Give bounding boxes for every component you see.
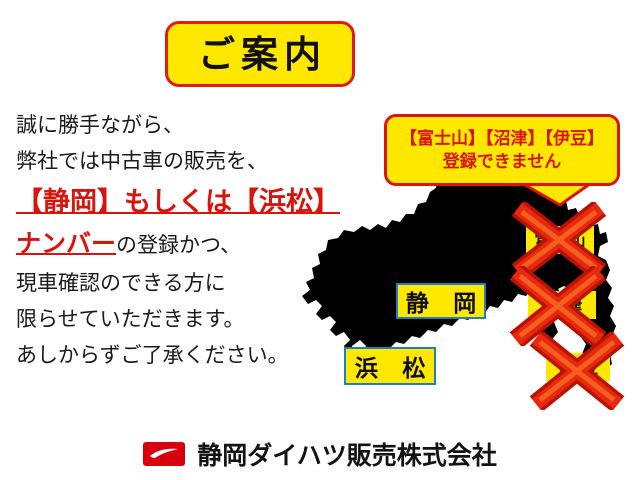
map-label-numazu-text: 沼 津 [539, 295, 585, 316]
body-line-4-rest: の登録かつ、 [116, 234, 241, 257]
title-text: ご案内 [193, 36, 327, 73]
number-emphasis: ナンバー [16, 230, 116, 258]
footer: 静岡ダイハツ販売株式会社 [0, 434, 640, 474]
map-label-hamamatsu: 浜 松 [344, 347, 436, 385]
title-banner: ご案内 [165, 21, 355, 87]
body-line-2: 弊社では中古車の販売を、 [16, 144, 336, 180]
callout-line-2: 登録できません [443, 150, 562, 173]
daihatsu-logo-icon [143, 442, 185, 466]
map-label-shizuoka: 静 岡 [396, 283, 486, 319]
map-label-fujisan-text: 富士山 [531, 230, 588, 251]
body-line-4: ナンバーの登録かつ、 [16, 224, 336, 266]
body-line-5: 現車確認のできる方に [16, 266, 336, 302]
body-paragraph: 誠に勝手ながら、 弊社では中古車の販売を、 【静岡】もしくは【浜松】 ナンバーの… [16, 108, 336, 374]
body-line-3-emphasis: 【静岡】もしくは【浜松】 [16, 180, 336, 224]
daihatsu-mark-svg [147, 445, 181, 463]
map-label-hamamatsu-text: 浜 松 [346, 349, 434, 383]
body-line-1: 誠に勝手ながら、 [16, 108, 336, 144]
body-line-6: 限らせていただきます。 [16, 302, 336, 338]
body-line-7: あしからずご了承ください。 [16, 338, 336, 374]
map-label-fujisan: 富士山 [526, 226, 594, 254]
map-label-izu-text: 伊 豆 [555, 357, 601, 378]
callout-balloon: 【富士山】【沼津】【伊豆】 登録できません [384, 114, 620, 186]
company-name: 静岡ダイハツ販売株式会社 [197, 436, 497, 472]
map-label-shizuoka-text: 静 岡 [397, 284, 485, 318]
map-label-izu: 伊 豆 [546, 353, 610, 381]
callout-line-1: 【富士山】【沼津】【伊豆】 [400, 127, 604, 150]
map-label-numazu: 沼 津 [528, 291, 596, 319]
notice-poster: ご案内 誠に勝手ながら、 弊社では中古車の販売を、 【静岡】もしくは【浜松】 ナ… [0, 0, 640, 480]
